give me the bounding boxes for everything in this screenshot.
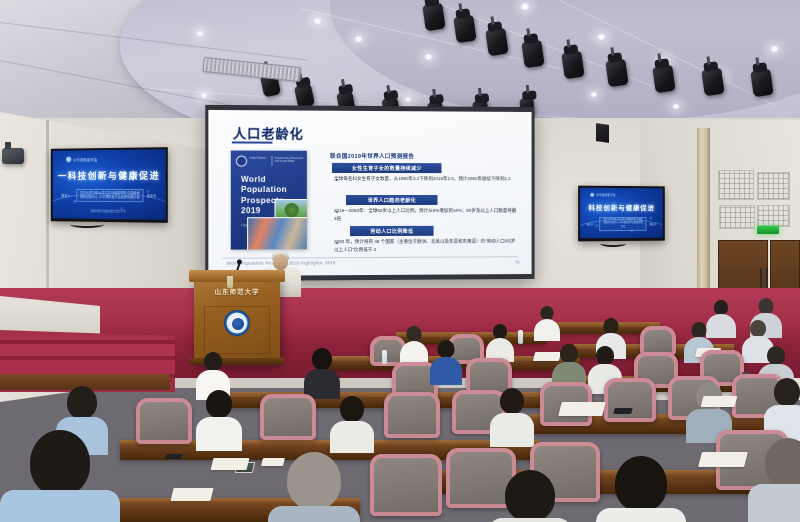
slide-section-band-3: 劳动人口比例降低 xyxy=(350,226,434,236)
audience-member xyxy=(430,340,462,382)
acoustic-panel xyxy=(718,170,754,200)
downlight xyxy=(313,18,322,24)
lectern-top xyxy=(189,270,285,282)
downlight xyxy=(354,36,363,42)
acoustic-panel xyxy=(757,172,790,200)
downlight xyxy=(520,3,530,10)
person-head xyxy=(493,324,507,339)
slide-title: 人口老龄化 xyxy=(233,123,304,142)
tv-right-subline: 报告人： 清华大学万科公共卫生与健康学院 中国疾病预防控制中心 中华预防医学会健… xyxy=(587,217,656,231)
stage-spotlight xyxy=(422,3,445,32)
downlight xyxy=(424,54,433,60)
speaker-head xyxy=(273,254,288,270)
person-head xyxy=(500,388,524,414)
person-head xyxy=(438,340,455,358)
audience-member-foreground xyxy=(596,456,686,522)
person-torso xyxy=(0,490,120,522)
slide-section-bullet-3: 2050 年，预计将有 48 个国家（主要位于欧洲、北美以及东亚和东南亚）的"劳… xyxy=(334,237,518,253)
person-head xyxy=(759,298,774,314)
lecture-hall-photo: 中华预防医学会 一科技创新与健康促进 报告人： 清华大学万科公共卫生与健康学院 … xyxy=(0,0,800,522)
mobile-phone[interactable] xyxy=(613,408,632,414)
door-handle[interactable] xyxy=(766,268,768,290)
person-torso xyxy=(430,357,462,385)
person-head xyxy=(560,344,578,363)
handout-paper xyxy=(698,452,748,467)
association-logo-icon xyxy=(66,157,72,163)
handout-paper xyxy=(558,402,605,416)
downlight xyxy=(404,97,412,102)
downlight xyxy=(770,46,779,52)
downlight xyxy=(200,93,208,98)
cover-photo-crowd xyxy=(247,217,307,249)
stage-spotlight xyxy=(521,40,544,69)
ceiling-projector xyxy=(2,148,24,164)
projection-screen: 人口老龄化 United Nations Department of Econo… xyxy=(205,105,534,281)
audience-member-foreground xyxy=(488,470,572,522)
tv-right-headline: 科技创新与健康促进 xyxy=(580,201,663,211)
audience-member-foreground xyxy=(0,430,120,522)
stage-spotlight xyxy=(485,28,508,57)
tv-left-screen: 中华预防医学会 一科技创新与健康促进 报告人： 清华大学万科公共卫生与健康学院 … xyxy=(53,149,166,220)
audience-member xyxy=(196,390,242,446)
person-torso xyxy=(268,506,360,522)
person-head xyxy=(541,306,554,320)
handout-paper xyxy=(211,458,250,470)
institution-nameplate: 山东师范大学 xyxy=(204,286,270,296)
auditorium-seat[interactable] xyxy=(370,454,442,516)
stage-spotlight xyxy=(701,68,724,97)
person-head xyxy=(206,390,232,418)
person-head xyxy=(750,320,766,337)
slide-page-number: 11 xyxy=(515,259,520,264)
audience-member xyxy=(490,388,534,442)
person-head xyxy=(407,326,422,342)
person-torso xyxy=(748,484,800,522)
tv-right-cable xyxy=(600,240,626,247)
wall-speaker xyxy=(596,123,609,143)
stage-spotlight xyxy=(561,51,584,80)
audience-member xyxy=(330,396,374,448)
auditorium-seat[interactable] xyxy=(604,378,656,422)
audience-member-foreground xyxy=(268,452,360,522)
person-torso xyxy=(196,417,242,451)
tv-right-host-label: 报告人： xyxy=(587,222,597,226)
slide-title-underline xyxy=(232,141,273,143)
person-head xyxy=(312,348,332,370)
un-org-line1: United Nations xyxy=(249,157,266,160)
slide-section-bullet-1: 全球每名妇女生育子女数量，从1990年3.2下降到2019年2.5，预计2050… xyxy=(334,175,518,183)
person-head xyxy=(774,378,800,406)
auditorium-seat[interactable] xyxy=(260,394,316,440)
auditorium-seat[interactable] xyxy=(136,398,192,444)
handout-paper xyxy=(701,396,738,407)
downlight xyxy=(597,34,606,40)
audience-member-foreground xyxy=(748,438,800,502)
slide-report-heading: 联合国2019年世界人口预测报告 xyxy=(330,152,414,160)
exit-sign xyxy=(757,226,779,234)
acoustic-panel xyxy=(719,205,755,229)
person-head xyxy=(287,452,341,510)
person-head xyxy=(67,386,97,419)
person-head xyxy=(505,470,555,522)
person-torso xyxy=(596,508,686,522)
person-head xyxy=(30,430,90,496)
person-head xyxy=(604,318,619,334)
tv-monitor-right: 中华预防医学会 科技创新与健康促进 报告人： 清华大学万科公共卫生与健康学院 中… xyxy=(578,186,665,242)
tv-left-affiliation: 清华大学万科公共卫生与健康学院 中国疾病预防控制中心 中华预防医学会健康传播分会 xyxy=(76,189,143,203)
person-head xyxy=(692,322,707,338)
un-emblem-icon xyxy=(236,156,247,167)
tv-left-host-label: 报告人： xyxy=(61,193,73,198)
downlight xyxy=(672,104,680,109)
tv-right-logo: 中华预防医学会 xyxy=(590,192,615,196)
person-head xyxy=(204,352,222,371)
tv-left-logo-text: 中华预防医学会 xyxy=(73,157,97,162)
stage-spotlight xyxy=(453,15,476,44)
mobile-phone[interactable] xyxy=(165,454,182,459)
cover-title-line-1: World xyxy=(241,175,287,186)
water-bottle xyxy=(382,350,387,364)
acoustic-panel xyxy=(757,205,790,227)
audience-member xyxy=(400,326,428,362)
person-head xyxy=(340,396,364,422)
lectern: 山东师范大学 xyxy=(194,276,280,364)
audience-member xyxy=(486,324,514,360)
presentation-slide: 人口老龄化 United Nations Department of Econo… xyxy=(208,110,531,276)
person-head xyxy=(596,346,614,365)
tv-left-cable xyxy=(70,221,104,228)
un-org-line2: Department of Economic and Social Affair… xyxy=(275,157,307,164)
person-head xyxy=(765,438,800,488)
tv-right-logo-text: 中华预防医学会 xyxy=(596,192,615,196)
person-head xyxy=(615,456,667,512)
stage-spotlight xyxy=(652,65,675,94)
water-bottle xyxy=(518,330,523,344)
university-seal-icon xyxy=(224,310,250,336)
tv-monitor-left: 中华预防医学会 一科技创新与健康促进 报告人： 清华大学万科公共卫生与健康学院 … xyxy=(51,147,168,223)
person-head xyxy=(767,346,785,365)
tv-right-screen: 中华预防医学会 科技创新与健康促进 报告人： 清华大学万科公共卫生与健康学院 中… xyxy=(580,188,663,239)
tv-left-date: 重庆市 xyxy=(147,193,157,198)
tv-right-date: 重庆市 xyxy=(649,222,656,226)
downlight xyxy=(590,92,598,97)
report-cover-image: United Nations Department of Economic an… xyxy=(231,151,307,250)
person-torso xyxy=(490,413,534,447)
auditorium-seat[interactable] xyxy=(384,392,440,438)
person-torso xyxy=(488,518,572,522)
downlight xyxy=(196,31,204,36)
door-handle[interactable] xyxy=(760,268,762,290)
slide-footer-divider xyxy=(223,256,518,258)
person-torso xyxy=(330,421,374,453)
tv-right-affiliation: 清华大学万科公共卫生与健康学院 中国疾病预防控制中心 中华预防医学会健康传播分会 xyxy=(599,217,646,231)
tv-left-headline: 一科技创新与健康促进 xyxy=(53,168,166,181)
slide-section-band-2: 世界人口趋向老龄化 xyxy=(346,195,437,205)
cover-title-line-2: Population xyxy=(241,185,287,195)
slide-section-bullet-2: 2019—2050年：全球65岁以上人口比例，预计从9%增加到16%；80岁及以… xyxy=(334,207,518,222)
water-cup xyxy=(227,276,233,288)
tv-left-subline: 报告人： 清华大学万科公共卫生与健康学院 中国疾病预防控制中心 中华预防医学会健… xyxy=(61,189,156,203)
person-head xyxy=(714,300,728,315)
audience-member xyxy=(534,306,560,338)
person-torso xyxy=(534,319,560,341)
stage-spotlight xyxy=(605,59,628,88)
audience-member xyxy=(304,348,340,396)
slide-section-band-1: 女性生育子女的数量持续减少 xyxy=(332,163,441,173)
handout-paper xyxy=(170,488,213,501)
logo-divider xyxy=(271,156,272,166)
association-logo-icon xyxy=(590,192,594,196)
stage-spotlight xyxy=(750,69,773,98)
audience-member xyxy=(764,378,800,436)
tv-left-logo: 中华预防医学会 xyxy=(66,156,98,162)
